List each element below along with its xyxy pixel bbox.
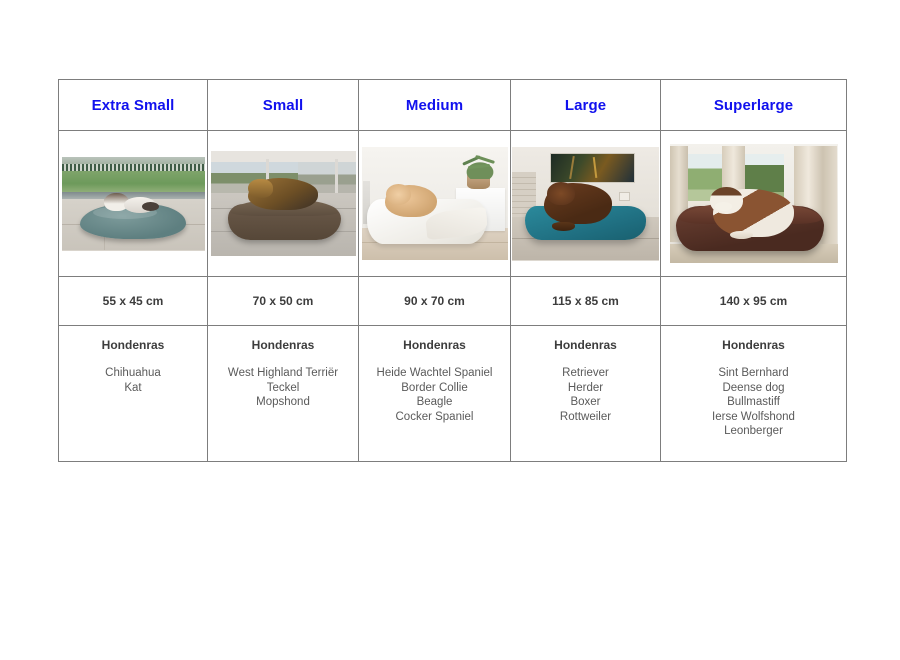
list-item: Chihuahua bbox=[59, 366, 207, 381]
photo-wrap-extra-small bbox=[59, 132, 207, 275]
size-header-label: Extra Small bbox=[59, 97, 207, 114]
list-item: Ierse Wolfshond bbox=[661, 410, 846, 425]
table-row-breeds: Hondenras Chihuahua Kat Hondenras West H… bbox=[59, 326, 847, 462]
breed-block: Hondenras Heide Wachtel Spaniel Border C… bbox=[359, 326, 510, 424]
breed-block: Hondenras Retriever Herder Boxer Rottwei… bbox=[511, 326, 660, 424]
dog-bed-photo-large bbox=[512, 147, 659, 261]
dimensions-label: 90 x 70 cm bbox=[359, 294, 510, 308]
header-cell-superlarge: Superlarge bbox=[661, 80, 847, 131]
table-row-headers: Extra Small Small Medium Large Superlarg… bbox=[59, 80, 847, 131]
table-row-photos bbox=[59, 131, 847, 277]
list-item: Rottweiler bbox=[511, 410, 660, 425]
breed-block: Hondenras Chihuahua Kat bbox=[59, 326, 207, 395]
photo-wrap-superlarge bbox=[661, 132, 846, 275]
list-item: Beagle bbox=[359, 395, 510, 410]
breeds-cell-superlarge: Hondenras Sint Bernhard Deense dog Bullm… bbox=[661, 326, 847, 462]
breeds-cell-large: Hondenras Retriever Herder Boxer Rottwei… bbox=[511, 326, 661, 462]
dimensions-label: 115 x 85 cm bbox=[511, 294, 660, 308]
breed-list: Retriever Herder Boxer Rottweiler bbox=[511, 366, 660, 424]
photo-dog-head bbox=[547, 182, 575, 205]
breeds-cell-medium: Hondenras Heide Wachtel Spaniel Border C… bbox=[359, 326, 511, 462]
photo-cell-medium bbox=[359, 131, 511, 277]
page-root: Extra Small Small Medium Large Superlarg… bbox=[0, 0, 900, 660]
list-item: Teckel bbox=[208, 381, 358, 396]
dimensions-label: 70 x 50 cm bbox=[208, 294, 358, 308]
dimensions-label: 140 x 95 cm bbox=[661, 294, 846, 308]
photo-cell-large bbox=[511, 131, 661, 277]
size-header-label: Small bbox=[208, 97, 358, 114]
photo-dog-head bbox=[386, 184, 411, 204]
header-cell-medium: Medium bbox=[359, 80, 511, 131]
table-row-dimensions: 55 x 45 cm 70 x 50 cm 90 x 70 cm 115 x 8… bbox=[59, 277, 847, 326]
list-item: Kat bbox=[59, 381, 207, 396]
dimensions-cell-large: 115 x 85 cm bbox=[511, 277, 661, 326]
breed-list: Heide Wachtel Spaniel Border Collie Beag… bbox=[359, 366, 510, 424]
list-item: Boxer bbox=[511, 395, 660, 410]
breeds-cell-small: Hondenras West Highland Terriër Teckel M… bbox=[208, 326, 359, 462]
dog-bed-photo-medium bbox=[362, 147, 508, 260]
size-header-label: Medium bbox=[359, 97, 510, 114]
breed-title: Hondenras bbox=[208, 338, 358, 352]
header-cell-small: Small bbox=[208, 80, 359, 131]
list-item: Leonberger bbox=[661, 424, 846, 439]
dog-bed-size-table: Extra Small Small Medium Large Superlarg… bbox=[58, 79, 847, 462]
list-item: West Highland Terriër bbox=[208, 366, 358, 381]
breed-title: Hondenras bbox=[59, 338, 207, 352]
photo-dog-head bbox=[248, 179, 273, 198]
dimensions-cell-small: 70 x 50 cm bbox=[208, 277, 359, 326]
header-cell-large: Large bbox=[511, 80, 661, 131]
photo-cell-superlarge bbox=[661, 131, 847, 277]
size-header-label: Superlarge bbox=[661, 97, 846, 114]
list-item: Heide Wachtel Spaniel bbox=[359, 366, 510, 381]
list-item: Retriever bbox=[511, 366, 660, 381]
photo-dog-paw bbox=[552, 222, 576, 231]
breed-title: Hondenras bbox=[511, 338, 660, 352]
photo-wrap-medium bbox=[359, 132, 510, 275]
breed-block: Hondenras Sint Bernhard Deense dog Bullm… bbox=[661, 326, 846, 439]
dimensions-cell-superlarge: 140 x 95 cm bbox=[661, 277, 847, 326]
photo-cell-small bbox=[208, 131, 359, 277]
breed-list: Sint Bernhard Deense dog Bullmastiff Ier… bbox=[661, 366, 846, 439]
photo-dog bbox=[142, 202, 159, 211]
dog-bed-photo-small bbox=[211, 151, 356, 256]
photo-lawn bbox=[62, 171, 205, 193]
breed-block: Hondenras West Highland Terriër Teckel M… bbox=[208, 326, 358, 410]
dog-bed-photo-extra-small bbox=[62, 157, 205, 251]
breed-title: Hondenras bbox=[661, 338, 846, 352]
photo-wrap-large bbox=[511, 132, 660, 275]
dimensions-cell-medium: 90 x 70 cm bbox=[359, 277, 511, 326]
photo-power-socket bbox=[619, 192, 630, 201]
photo-cell-extra-small bbox=[59, 131, 208, 277]
list-item: Deense dog bbox=[661, 381, 846, 396]
dimensions-label: 55 x 45 cm bbox=[59, 294, 207, 308]
list-item: Herder bbox=[511, 381, 660, 396]
list-item: Cocker Spaniel bbox=[359, 410, 510, 425]
dimensions-cell-extra-small: 55 x 45 cm bbox=[59, 277, 208, 326]
list-item: Sint Bernhard bbox=[661, 366, 846, 381]
breed-list: Chihuahua Kat bbox=[59, 366, 207, 395]
size-header-label: Large bbox=[511, 97, 660, 114]
breeds-cell-extra-small: Hondenras Chihuahua Kat bbox=[59, 326, 208, 462]
dog-bed-photo-superlarge bbox=[670, 144, 838, 263]
list-item: Bullmastiff bbox=[661, 395, 846, 410]
list-item: Border Collie bbox=[359, 381, 510, 396]
header-cell-extra-small: Extra Small bbox=[59, 80, 208, 131]
photo-dog-muzzle bbox=[715, 202, 732, 210]
photo-wrap-small bbox=[208, 132, 358, 275]
list-item: Mopshond bbox=[208, 395, 358, 410]
breed-title: Hondenras bbox=[359, 338, 510, 352]
photo-fence bbox=[62, 164, 205, 171]
breed-list: West Highland Terriër Teckel Mopshond bbox=[208, 366, 358, 410]
